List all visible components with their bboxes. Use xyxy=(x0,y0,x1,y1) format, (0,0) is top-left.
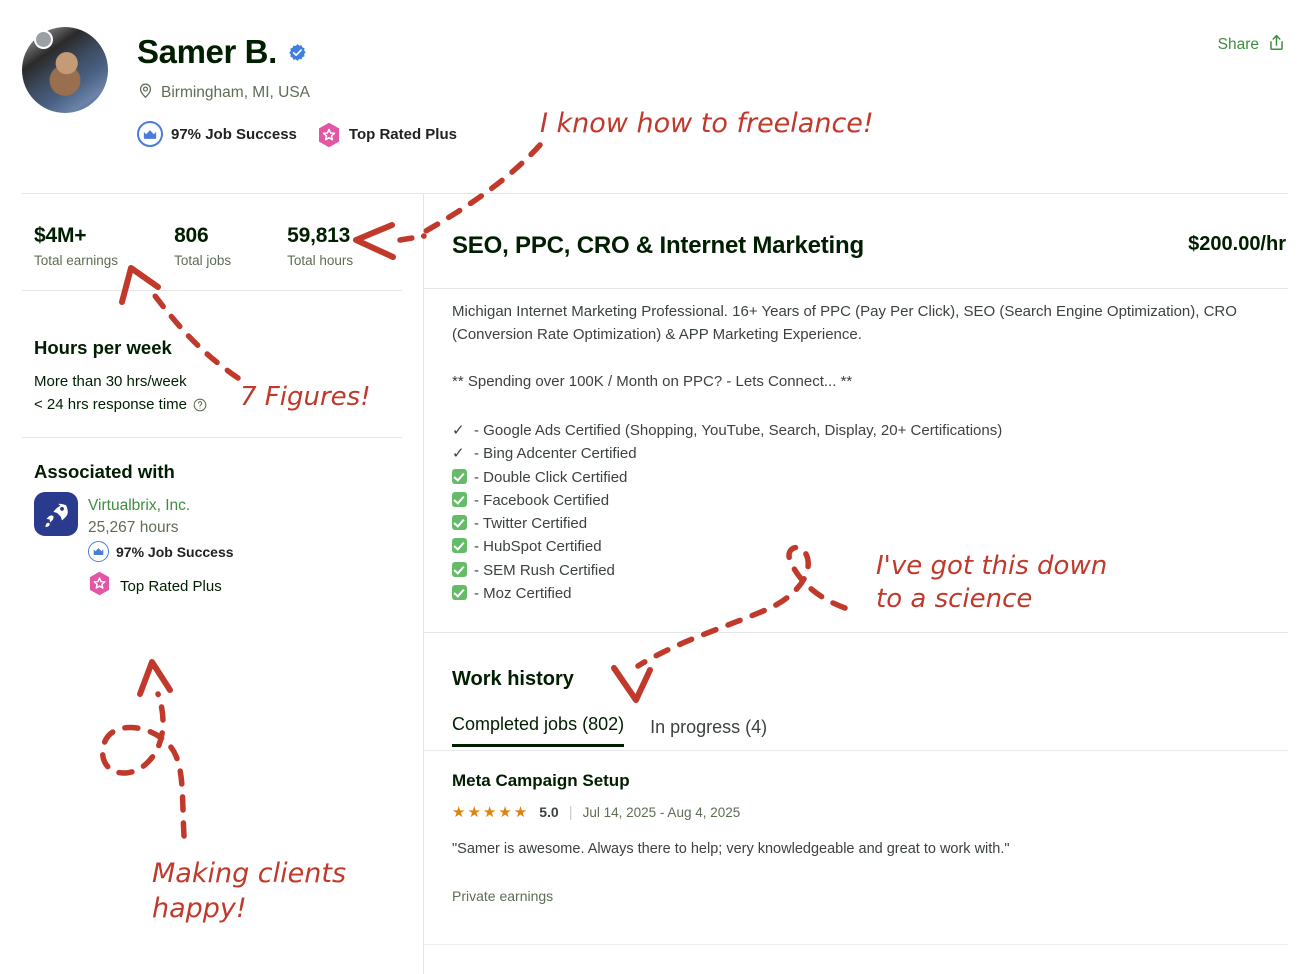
description-paragraph-1: Michigan Internet Marketing Professional… xyxy=(452,300,1242,347)
certification-item: - Twitter Certified xyxy=(452,512,1002,535)
associated-with-title: Associated with xyxy=(34,461,175,483)
work-entry-rating-row: ★★★★★ 5.0 | Jul 14, 2025 - Aug 4, 2025 xyxy=(452,803,740,821)
certifications-list: ✓ - Google Ads Certified (Shopping, YouT… xyxy=(452,419,1002,605)
location-pin-icon xyxy=(137,82,154,104)
crown-icon xyxy=(137,121,163,147)
tab-completed-jobs[interactable]: Completed jobs (802) xyxy=(452,714,624,747)
crown-icon xyxy=(88,541,109,562)
check-tick-icon: ✓ xyxy=(452,442,474,465)
certification-item: - SEM Rush Certified xyxy=(452,559,1002,582)
sidebar-divider-1 xyxy=(22,290,402,291)
verified-badge-icon xyxy=(288,43,307,62)
stat-label: Total earnings xyxy=(34,253,118,268)
star-rating-icon: ★★★★★ xyxy=(452,803,529,821)
top-rated-plus-badge[interactable]: Top Rated Plus xyxy=(317,122,457,146)
certification-text: - SEM Rush Certified xyxy=(474,559,615,582)
stat-total-jobs: 806 Total jobs xyxy=(174,224,231,268)
tabs-divider xyxy=(424,750,1288,751)
certification-text: - Facebook Certified xyxy=(474,489,609,512)
hours-per-week-title: Hours per week xyxy=(34,337,172,359)
header-divider xyxy=(22,193,1288,194)
question-mark-icon[interactable] xyxy=(193,398,207,412)
top-rated-plus-label: Top Rated Plus xyxy=(349,126,457,143)
bottom-divider xyxy=(424,944,1288,945)
check-tick-icon: ✓ xyxy=(452,419,474,442)
description-paragraph-2: ** Spending over 100K / Month on PPC? - … xyxy=(452,370,1242,393)
certification-item: - HubSpot Certified xyxy=(452,535,1002,558)
profile-description: Michigan Internet Marketing Professional… xyxy=(452,300,1242,416)
stat-total-earnings: $4M+ Total earnings xyxy=(34,224,118,268)
stat-value: $4M+ xyxy=(34,224,118,248)
offline-status-dot xyxy=(34,30,53,49)
work-entry-title[interactable]: Meta Campaign Setup xyxy=(452,771,630,791)
share-label: Share xyxy=(1218,36,1259,54)
work-entry-review: "Samer is awesome. Always there to help;… xyxy=(452,841,1010,857)
rating-value: 5.0 xyxy=(539,804,558,820)
response-time-text: < 24 hrs response time xyxy=(34,396,187,413)
location-text: Birmingham, MI, USA xyxy=(161,84,310,102)
sidebar-divider xyxy=(423,194,424,974)
rocket-icon xyxy=(34,492,78,536)
associated-hours: 25,267 hours xyxy=(88,519,179,537)
share-upload-icon xyxy=(1267,33,1286,57)
annotation-figures: 7 Figures! xyxy=(240,381,371,414)
green-checkbox-icon xyxy=(452,582,474,605)
associated-company-link[interactable]: Virtualbrix, Inc. xyxy=(88,497,190,515)
green-checkbox-icon xyxy=(452,535,474,558)
certification-text: - Double Click Certified xyxy=(474,466,627,489)
stat-value: 59,813 xyxy=(287,224,353,248)
job-title: SEO, PPC, CRO & Internet Marketing xyxy=(452,232,864,260)
green-checkbox-icon xyxy=(452,512,474,535)
certification-text: - Bing Adcenter Certified xyxy=(474,442,637,465)
certification-item: - Facebook Certified xyxy=(452,489,1002,512)
tab-in-progress[interactable]: In progress (4) xyxy=(650,717,767,747)
certification-text: - Moz Certified xyxy=(474,582,572,605)
name-row: Samer B. xyxy=(137,33,307,71)
profile-page: Samer B. Birmingham, MI, USA xyxy=(0,0,1314,974)
location-row: Birmingham, MI, USA xyxy=(137,82,310,104)
separator: | xyxy=(569,804,573,821)
certification-item: - Double Click Certified xyxy=(452,466,1002,489)
certification-item: ✓ - Bing Adcenter Certified xyxy=(452,442,1002,465)
availability-text: More than 30 hrs/week xyxy=(34,373,187,390)
stat-label: Total jobs xyxy=(174,253,231,268)
profile-header: Samer B. Birmingham, MI, USA xyxy=(0,0,1314,188)
stats-row: $4M+ Total earnings 806 Total jobs 59,81… xyxy=(34,224,353,268)
hexagon-star-icon xyxy=(88,571,111,601)
green-checkbox-icon xyxy=(452,489,474,512)
job-success-label: 97% Job Success xyxy=(171,126,297,143)
work-entry-earnings: Private earnings xyxy=(452,888,553,904)
stat-label: Total hours xyxy=(287,253,353,268)
certification-text: - HubSpot Certified xyxy=(474,535,602,558)
main-divider-1 xyxy=(424,288,1288,289)
work-history-tabs: Completed jobs (802) In progress (4) xyxy=(452,714,767,747)
work-entry-dates: Jul 14, 2025 - Aug 4, 2025 xyxy=(583,805,741,820)
avatar[interactable] xyxy=(22,27,108,113)
associated-job-success-label: 97% Job Success xyxy=(116,544,234,560)
stat-value: 806 xyxy=(174,224,231,248)
response-time-row: < 24 hrs response time xyxy=(34,396,207,413)
main-divider-2 xyxy=(424,632,1288,633)
certification-text: - Twitter Certified xyxy=(474,512,587,535)
page-title: Samer B. xyxy=(137,33,277,71)
associated-top-rated: Top Rated Plus xyxy=(88,571,222,601)
certification-item: ✓ - Google Ads Certified (Shopping, YouT… xyxy=(452,419,1002,442)
work-history-title: Work history xyxy=(452,668,574,691)
associated-top-rated-label: Top Rated Plus xyxy=(120,578,222,595)
green-checkbox-icon xyxy=(452,466,474,489)
green-checkbox-icon xyxy=(452,559,474,582)
certification-item: - Moz Certified xyxy=(452,582,1002,605)
sidebar-divider-2 xyxy=(22,437,402,438)
certification-text: - Google Ads Certified (Shopping, YouTub… xyxy=(474,419,1002,442)
job-success-badge[interactable]: 97% Job Success xyxy=(137,121,297,147)
associated-job-success: 97% Job Success xyxy=(88,541,234,562)
stat-total-hours: 59,813 Total hours xyxy=(287,224,353,268)
hourly-rate: $200.00/hr xyxy=(1188,233,1286,256)
annotation-happy: Making clients happy! xyxy=(152,857,346,926)
hexagon-star-icon xyxy=(317,122,341,146)
share-button[interactable]: Share xyxy=(1218,33,1286,57)
badges-row: 97% Job Success Top Rated Plus xyxy=(137,121,457,147)
